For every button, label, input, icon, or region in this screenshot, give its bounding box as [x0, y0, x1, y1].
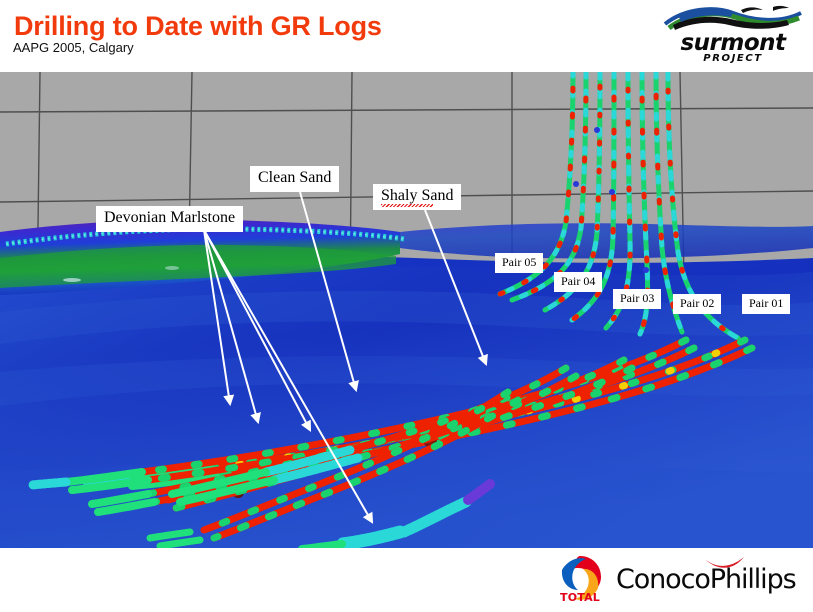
label-pair-01[interactable]: Pair 01	[742, 294, 790, 314]
surmont-logo: surmont PROJECT	[663, 4, 803, 66]
pair-label: Pair 03	[620, 291, 654, 305]
pair-label: Pair 05	[502, 255, 536, 269]
callout-shaly-sand[interactable]: Shaly Sand	[373, 184, 461, 210]
callout-label: Shaly Sand	[381, 188, 453, 205]
slide-header: Drilling to Date with GR Logs surmont PR…	[0, 0, 813, 72]
label-pair-05[interactable]: Pair 05	[495, 253, 543, 273]
conocophillips-wordmark: ConocoPhillips	[616, 564, 806, 595]
callout-label: Devonian Marlstone	[104, 209, 235, 226]
page-title: Drilling to Date with GR Logs	[14, 11, 382, 42]
conference-note: AAPG 2005, Calgary	[13, 40, 134, 55]
conocophillips-logo: ConocoPhillips	[616, 556, 806, 598]
label-pair-03[interactable]: Pair 03	[613, 289, 661, 309]
surmont-subtitle: PROJECT	[663, 53, 803, 64]
pair-label: Pair 01	[749, 296, 783, 310]
label-pair-02[interactable]: Pair 02	[673, 294, 721, 314]
callout-devonian-marlstone[interactable]: Devonian Marlstone	[96, 206, 243, 232]
pair-label: Pair 02	[680, 296, 714, 310]
total-wordmark: TOTAL	[554, 591, 606, 604]
label-pair-04[interactable]: Pair 04	[554, 272, 602, 292]
callout-clean-sand[interactable]: Clean Sand	[250, 166, 339, 192]
callout-label: Clean Sand	[258, 169, 331, 186]
3d-well-view[interactable]: Devonian Marlstone Clean Sand Shaly Sand…	[0, 72, 813, 548]
pair-label: Pair 04	[561, 274, 595, 288]
